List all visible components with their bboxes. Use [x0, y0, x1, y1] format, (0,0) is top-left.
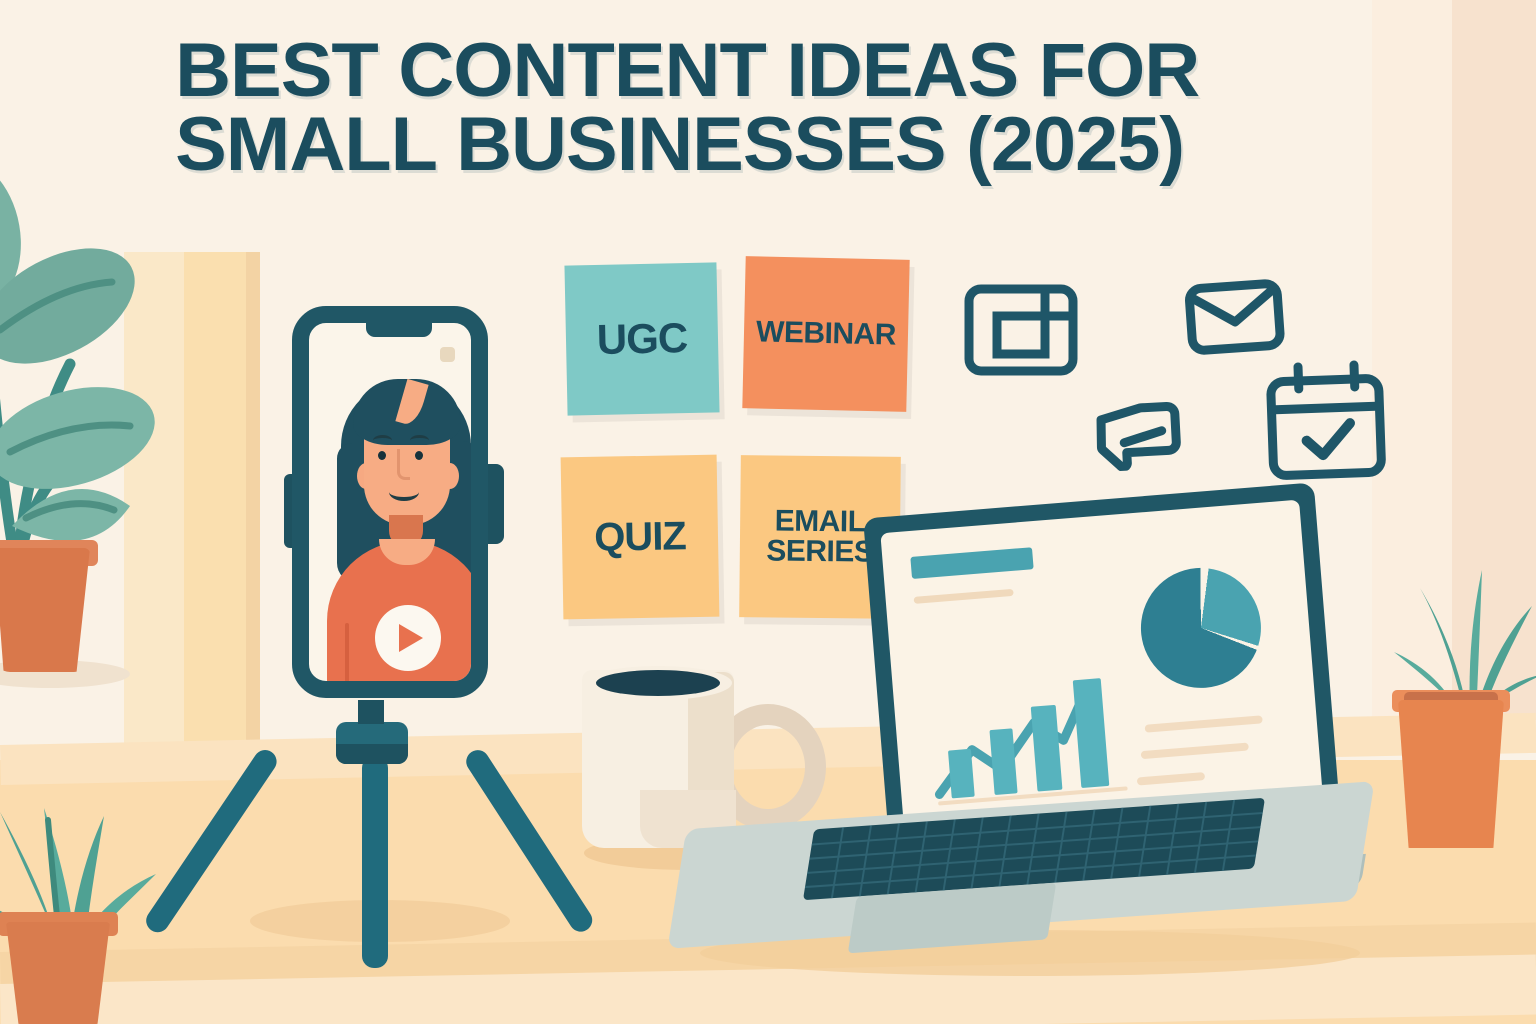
page-title: BEST CONTENT IDEAS FOR SMALL BUSINESSES … — [175, 34, 1287, 183]
illustration-canvas: BEST CONTENT IDEAS FOR SMALL BUSINESSES … — [0, 0, 1536, 1024]
keyboard-column-line — [1026, 814, 1039, 885]
dashboard-text-line-3 — [1137, 772, 1205, 785]
sticky-note-label: UGC — [596, 317, 687, 361]
sticky-note-label: QUIZ — [594, 516, 686, 558]
keyboard-column-line — [915, 821, 928, 892]
phone-notch — [366, 323, 432, 337]
chat-bubble-icon — [1088, 398, 1188, 478]
keyboard-column-line — [943, 819, 956, 890]
title-line-2: SMALL BUSINESSES (2025) — [175, 108, 1287, 182]
tripod-hub-shade — [336, 744, 408, 764]
sticky-note-label-line1: EMAIL — [766, 506, 873, 537]
title-line-1: BEST CONTENT IDEAS FOR — [175, 34, 1287, 108]
sticky-note-ugc[interactable]: UGC — [564, 262, 719, 415]
keyboard-column-line — [1194, 802, 1207, 873]
person-eyebrow-right — [410, 435, 429, 446]
dashboard-bar-1 — [948, 749, 975, 799]
keyboard-column-line — [1082, 810, 1095, 881]
smartphone[interactable] — [292, 306, 504, 706]
keyboard-column-line — [1110, 808, 1123, 879]
coffee-liquid — [596, 670, 720, 696]
keyboard-column-line — [998, 816, 1011, 887]
dashboard-header-bar — [910, 547, 1033, 579]
dashboard-text-line-2 — [1141, 743, 1249, 760]
dashboard-pie-chart — [1136, 563, 1265, 692]
plant-bottom-left-pot — [6, 922, 110, 1024]
keyboard-column-line — [1138, 806, 1151, 877]
laptop-base — [676, 806, 1366, 926]
play-icon[interactable] — [375, 605, 441, 671]
keyboard-column-line — [859, 825, 872, 896]
sticky-note-quiz[interactable]: QUIZ — [561, 455, 720, 620]
laptop-screen[interactable] — [880, 500, 1323, 839]
envelope-icon — [1182, 275, 1288, 367]
dashboard-text-line-1 — [1145, 715, 1263, 732]
layout-grid-icon — [962, 282, 1080, 383]
screen-indicator-icon — [440, 347, 455, 362]
person-nose — [397, 449, 410, 480]
keyboard-column-line — [1166, 804, 1179, 875]
plant-right-pot — [1398, 700, 1504, 848]
sticky-note-webinar[interactable]: WEBINAR — [742, 256, 909, 412]
keyboard-column-line — [971, 817, 984, 888]
tripod-leg-center — [362, 756, 388, 968]
keyboard-column-line — [887, 823, 900, 894]
person-eye-right — [415, 451, 423, 460]
sticky-note-label-line2: SERIES — [766, 536, 873, 567]
person-shirt-fold — [345, 623, 349, 685]
calendar-check-icon — [1262, 356, 1390, 491]
play-triangle — [399, 624, 423, 652]
keyboard-column-line — [1222, 800, 1235, 871]
person-eye-left — [378, 451, 386, 460]
keyboard-column-line — [1054, 812, 1067, 883]
dashboard-subtitle-line — [914, 589, 1014, 604]
plant-left-foliage — [0, 118, 170, 588]
sticky-note-label: WEBINAR — [756, 317, 896, 350]
person-eyebrow-left — [373, 435, 392, 446]
keyboard-column-line — [831, 827, 844, 898]
phone-body — [292, 306, 488, 698]
person-mouth — [389, 483, 419, 501]
plant-left-pot — [0, 548, 90, 672]
